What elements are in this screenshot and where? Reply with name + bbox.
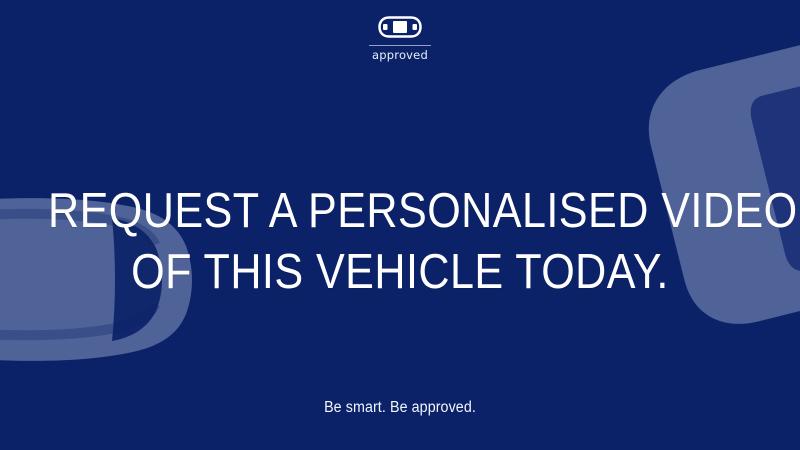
logo-wordmark: approved — [372, 50, 428, 62]
logo-divider — [369, 45, 431, 46]
brand-tagline: Be smart. Be approved. — [32, 399, 768, 417]
headline-line-1: REQUEST A PERSONALISED VIDEO — [48, 181, 752, 242]
promo-slide: approved REQUEST A PERSONALISED VIDEO OF… — [0, 0, 800, 450]
car-top-view-icon — [378, 16, 422, 38]
page-title: REQUEST A PERSONALISED VIDEO OF THIS VEH… — [0, 181, 800, 303]
brand-logo: approved — [0, 16, 800, 62]
headline-line-2: OF THIS VEHICLE TODAY. — [48, 242, 752, 303]
